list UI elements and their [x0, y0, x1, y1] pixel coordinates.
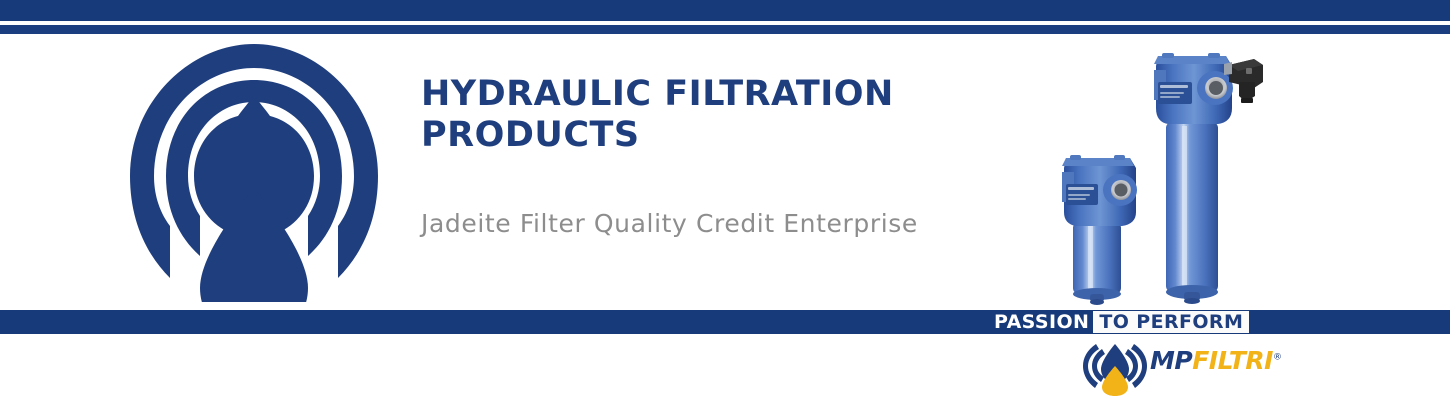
- tagline-strip: PASSION TO PERFORM: [992, 311, 1249, 333]
- hydraulic-filter-product-image: [1058, 34, 1308, 310]
- wordmark-filtri: FILTRI: [1192, 346, 1273, 375]
- hydraulic-filtration-banner: HYDRAULIC FILTRATION PRODUCTS Jadeite Fi…: [0, 0, 1450, 400]
- tagline-to-perform: TO PERFORM: [1093, 311, 1249, 333]
- tagline-passion: PASSION: [992, 311, 1093, 333]
- page-title: HYDRAULIC FILTRATION PRODUCTS: [421, 74, 1041, 156]
- mp-filtri-logo: MPFILTRI®: [1082, 338, 1267, 396]
- top-rule-primary: [0, 0, 1450, 21]
- top-rule-secondary: [0, 25, 1450, 34]
- headline-block: HYDRAULIC FILTRATION PRODUCTS: [421, 74, 1041, 156]
- registered-trademark-icon: ®: [1273, 352, 1282, 362]
- mp-filtri-droplet-arcs-icon: [1082, 338, 1148, 396]
- short-filter-unit: [1062, 155, 1137, 305]
- tall-filter-unit: [1154, 53, 1263, 304]
- brand-droplet-arcs-icon: [118, 40, 390, 302]
- mp-filtri-wordmark: MPFILTRI®: [1150, 348, 1281, 373]
- page-subtitle: Jadeite Filter Quality Credit Enterprise: [421, 209, 918, 238]
- wordmark-mp: MP: [1150, 346, 1192, 375]
